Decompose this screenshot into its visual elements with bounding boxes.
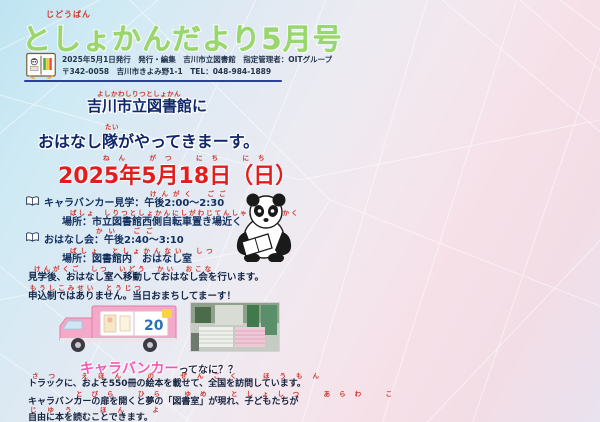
caravan-truck-illustration: 20: [52, 300, 180, 354]
publication-line-2: 〒342-0058 吉川市きよみ野1-1 TEL：048-984-1889: [62, 66, 332, 78]
page-title: としょかんだより5月号: [22, 16, 343, 58]
headline-line-1: 吉川市立図書館に: [87, 95, 207, 116]
header-divider: [24, 80, 282, 82]
event-2-line: おはなし会：午後2:40～3:10: [44, 231, 184, 246]
open-book-icon: [26, 196, 39, 206]
event-date: 2025年5月18日（日）: [58, 158, 297, 190]
svg-text:20: 20: [144, 318, 164, 334]
right-column: はる どくしょ 春の読書ラリー: [300, 0, 600, 422]
caravan-body-line-3: 自由に本を読むことできます。: [28, 410, 153, 422]
left-column: じどうばん としょかんだより5月号 2025年5月1日発行 発行・編集 吉川市立…: [0, 0, 300, 422]
note-line-1: 見学後、おはなし室へ移動しておはなし会を行います。: [28, 269, 264, 283]
library-entrance-photo: [190, 302, 280, 352]
headline-line-2: おはなし隊がやってきまーす。: [38, 128, 259, 152]
newsletter-page: じどうばん としょかんだより5月号 2025年5月1日発行 発行・編集 吉川市立…: [0, 0, 600, 422]
open-book-icon: [26, 232, 39, 242]
publication-line-1: 2025年5月1日発行 発行・編集 吉川市立図書館 指定管理者：OITグループ: [62, 54, 332, 66]
open-book-mascot-icon: [26, 52, 56, 79]
publication-info: 2025年5月1日発行 発行・編集 吉川市立図書館 指定管理者：OITグループ …: [62, 54, 332, 78]
panda-reading-illustration: [228, 190, 298, 262]
